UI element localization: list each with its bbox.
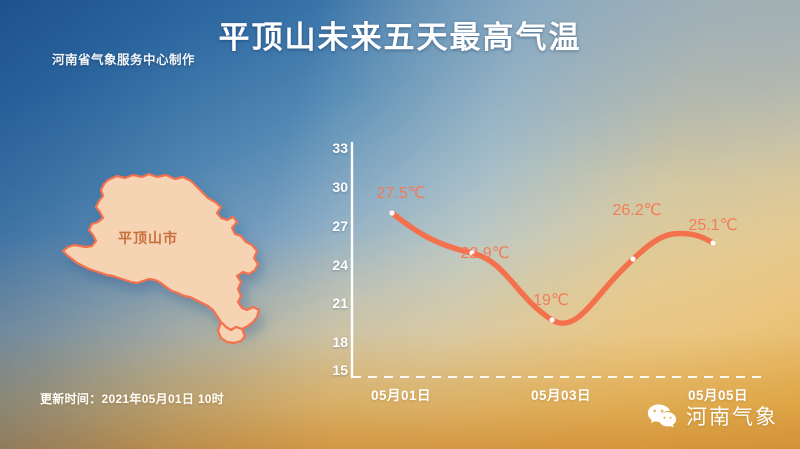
data-label-2: 22.9℃	[460, 243, 509, 263]
update-timestamp: 更新时间：2021年05月01日 10时	[40, 390, 224, 407]
data-label-1: 27.5℃	[376, 183, 425, 203]
producer-credit: 河南省气象服务中心制作	[52, 49, 195, 68]
wechat-watermark: 河南气象	[647, 401, 778, 431]
y-tick-24: 24	[318, 257, 348, 273]
watermark-label: 河南气象	[686, 401, 778, 431]
data-label-3: 19℃	[533, 290, 569, 310]
y-tick-18: 18	[318, 334, 348, 350]
y-tick-33: 33	[318, 140, 348, 156]
x-tick-label-1: 05月01日	[371, 384, 431, 404]
y-tick-27: 27	[318, 218, 348, 234]
map-region-label: 平顶山市	[118, 228, 178, 248]
data-label-4: 26.2℃	[612, 200, 661, 220]
y-tick-21: 21	[318, 295, 348, 311]
y-tick-30: 30	[318, 179, 348, 195]
y-axis-tick-labels: 33 30 27 24 21 18 15	[314, 0, 348, 449]
wechat-icon	[647, 403, 677, 429]
data-label-5: 25.1℃	[688, 215, 737, 235]
x-tick-label-2: 05月03日	[531, 384, 591, 404]
weather-forecast-graphic: 平顶山未来五天最高气温 河南省气象服务中心制作 平顶山市	[0, 0, 800, 449]
map-region-shape	[63, 174, 259, 330]
y-tick-15: 15	[318, 362, 348, 378]
